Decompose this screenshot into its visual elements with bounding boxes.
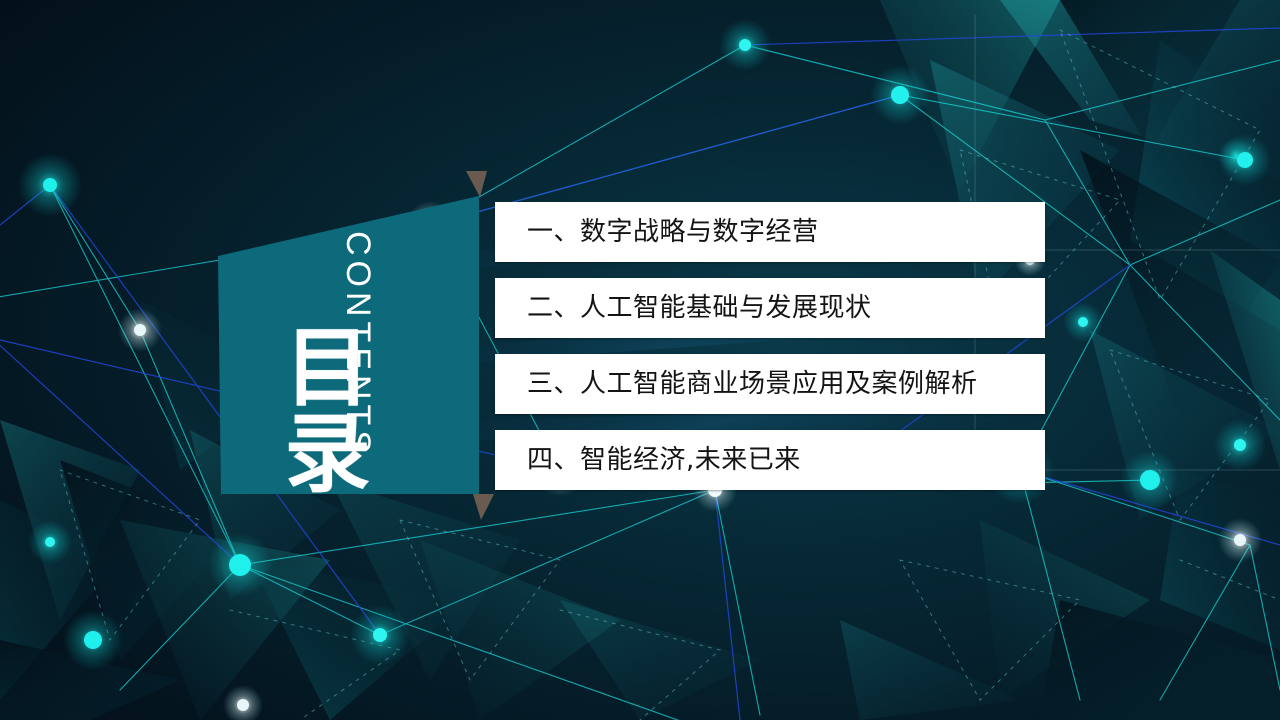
contents-item-3[interactable]: 三、人工智能商业场景应用及案例解析 [495, 354, 1045, 414]
contents-item-4-label: 四、智能经济,未来已来 [495, 445, 801, 475]
contents-item-3-label: 三、人工智能商业场景应用及案例解析 [495, 369, 978, 399]
contents-item-4[interactable]: 四、智能经济,未来已来 [495, 430, 1045, 490]
contents-item-1-label: 一、数字战略与数字经营 [495, 217, 819, 247]
page-title: 目录 [262, 322, 358, 494]
contents-item-2-label: 二、人工智能基础与发展现状 [495, 293, 872, 323]
contents-item-1[interactable]: 一、数字战略与数字经营 [495, 202, 1045, 262]
presentation-slide: CONTENTS 目录 一、数字战略与数字经营 二、人工智能基础与发展现状 三、… [0, 0, 1280, 720]
contents-list: 一、数字战略与数字经营 二、人工智能基础与发展现状 三、人工智能商业场景应用及案… [495, 202, 1045, 491]
contents-item-2[interactable]: 二、人工智能基础与发展现状 [495, 278, 1045, 338]
